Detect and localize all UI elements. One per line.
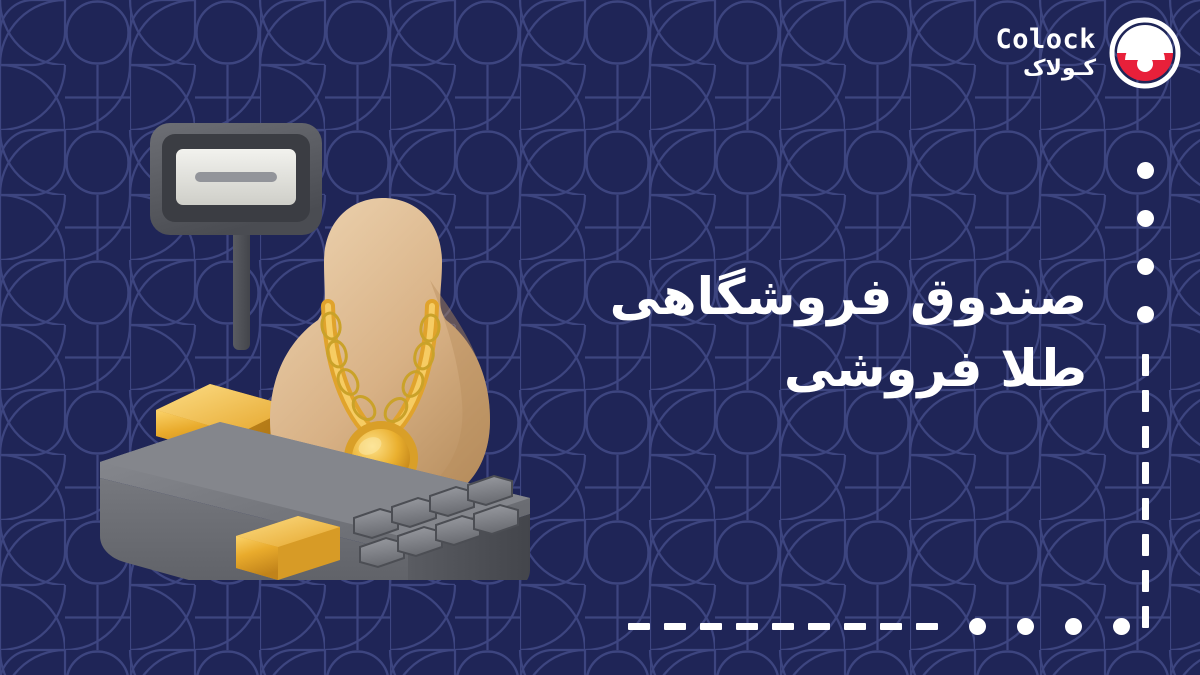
guide-dot — [1113, 618, 1130, 635]
page-title: صندوق فروشگاهی طلا فروشی — [547, 262, 1087, 407]
guide-dash — [808, 623, 830, 630]
guide-dot — [1017, 618, 1034, 635]
guide-dash — [916, 623, 938, 630]
promo-banner: Colock کـولاک صندوق فروشگاه — [0, 0, 1200, 675]
brand-name-persian: کـولاک — [1023, 58, 1096, 80]
guide-dot — [1137, 258, 1154, 275]
guide-dash — [1142, 534, 1149, 556]
horizontal-dotted-guide — [628, 617, 1168, 635]
guide-dash — [1142, 390, 1149, 412]
guide-dash — [1142, 498, 1149, 520]
gold-scale-illustration — [78, 110, 548, 580]
scale-display-screen — [150, 123, 322, 235]
guide-dash — [844, 623, 866, 630]
guide-dash — [628, 623, 650, 630]
headline-line-1: صندوق فروشگاهی — [547, 262, 1087, 334]
guide-dash — [700, 623, 722, 630]
guide-dash — [1142, 426, 1149, 448]
headline-line-2: طلا فروشی — [547, 334, 1087, 406]
guide-dash — [664, 623, 686, 630]
guide-dot — [1137, 210, 1154, 227]
guide-dot — [1137, 306, 1154, 323]
guide-dot — [969, 618, 986, 635]
guide-dash — [880, 623, 902, 630]
guide-dot — [1137, 162, 1154, 179]
brand-logo[interactable]: Colock کـولاک — [995, 16, 1182, 90]
vertical-dotted-guide — [1136, 162, 1154, 627]
scale-display-post — [233, 215, 250, 350]
guide-dot — [1065, 618, 1082, 635]
guide-dash — [1142, 462, 1149, 484]
colock-circle-logo-icon — [1108, 16, 1182, 90]
brand-name-latin: Colock — [995, 26, 1096, 53]
brand-wordmark: Colock کـولاک — [995, 26, 1096, 80]
guide-dash — [1142, 570, 1149, 592]
guide-dash — [736, 623, 758, 630]
guide-dash — [1142, 354, 1149, 376]
guide-dash — [772, 623, 794, 630]
